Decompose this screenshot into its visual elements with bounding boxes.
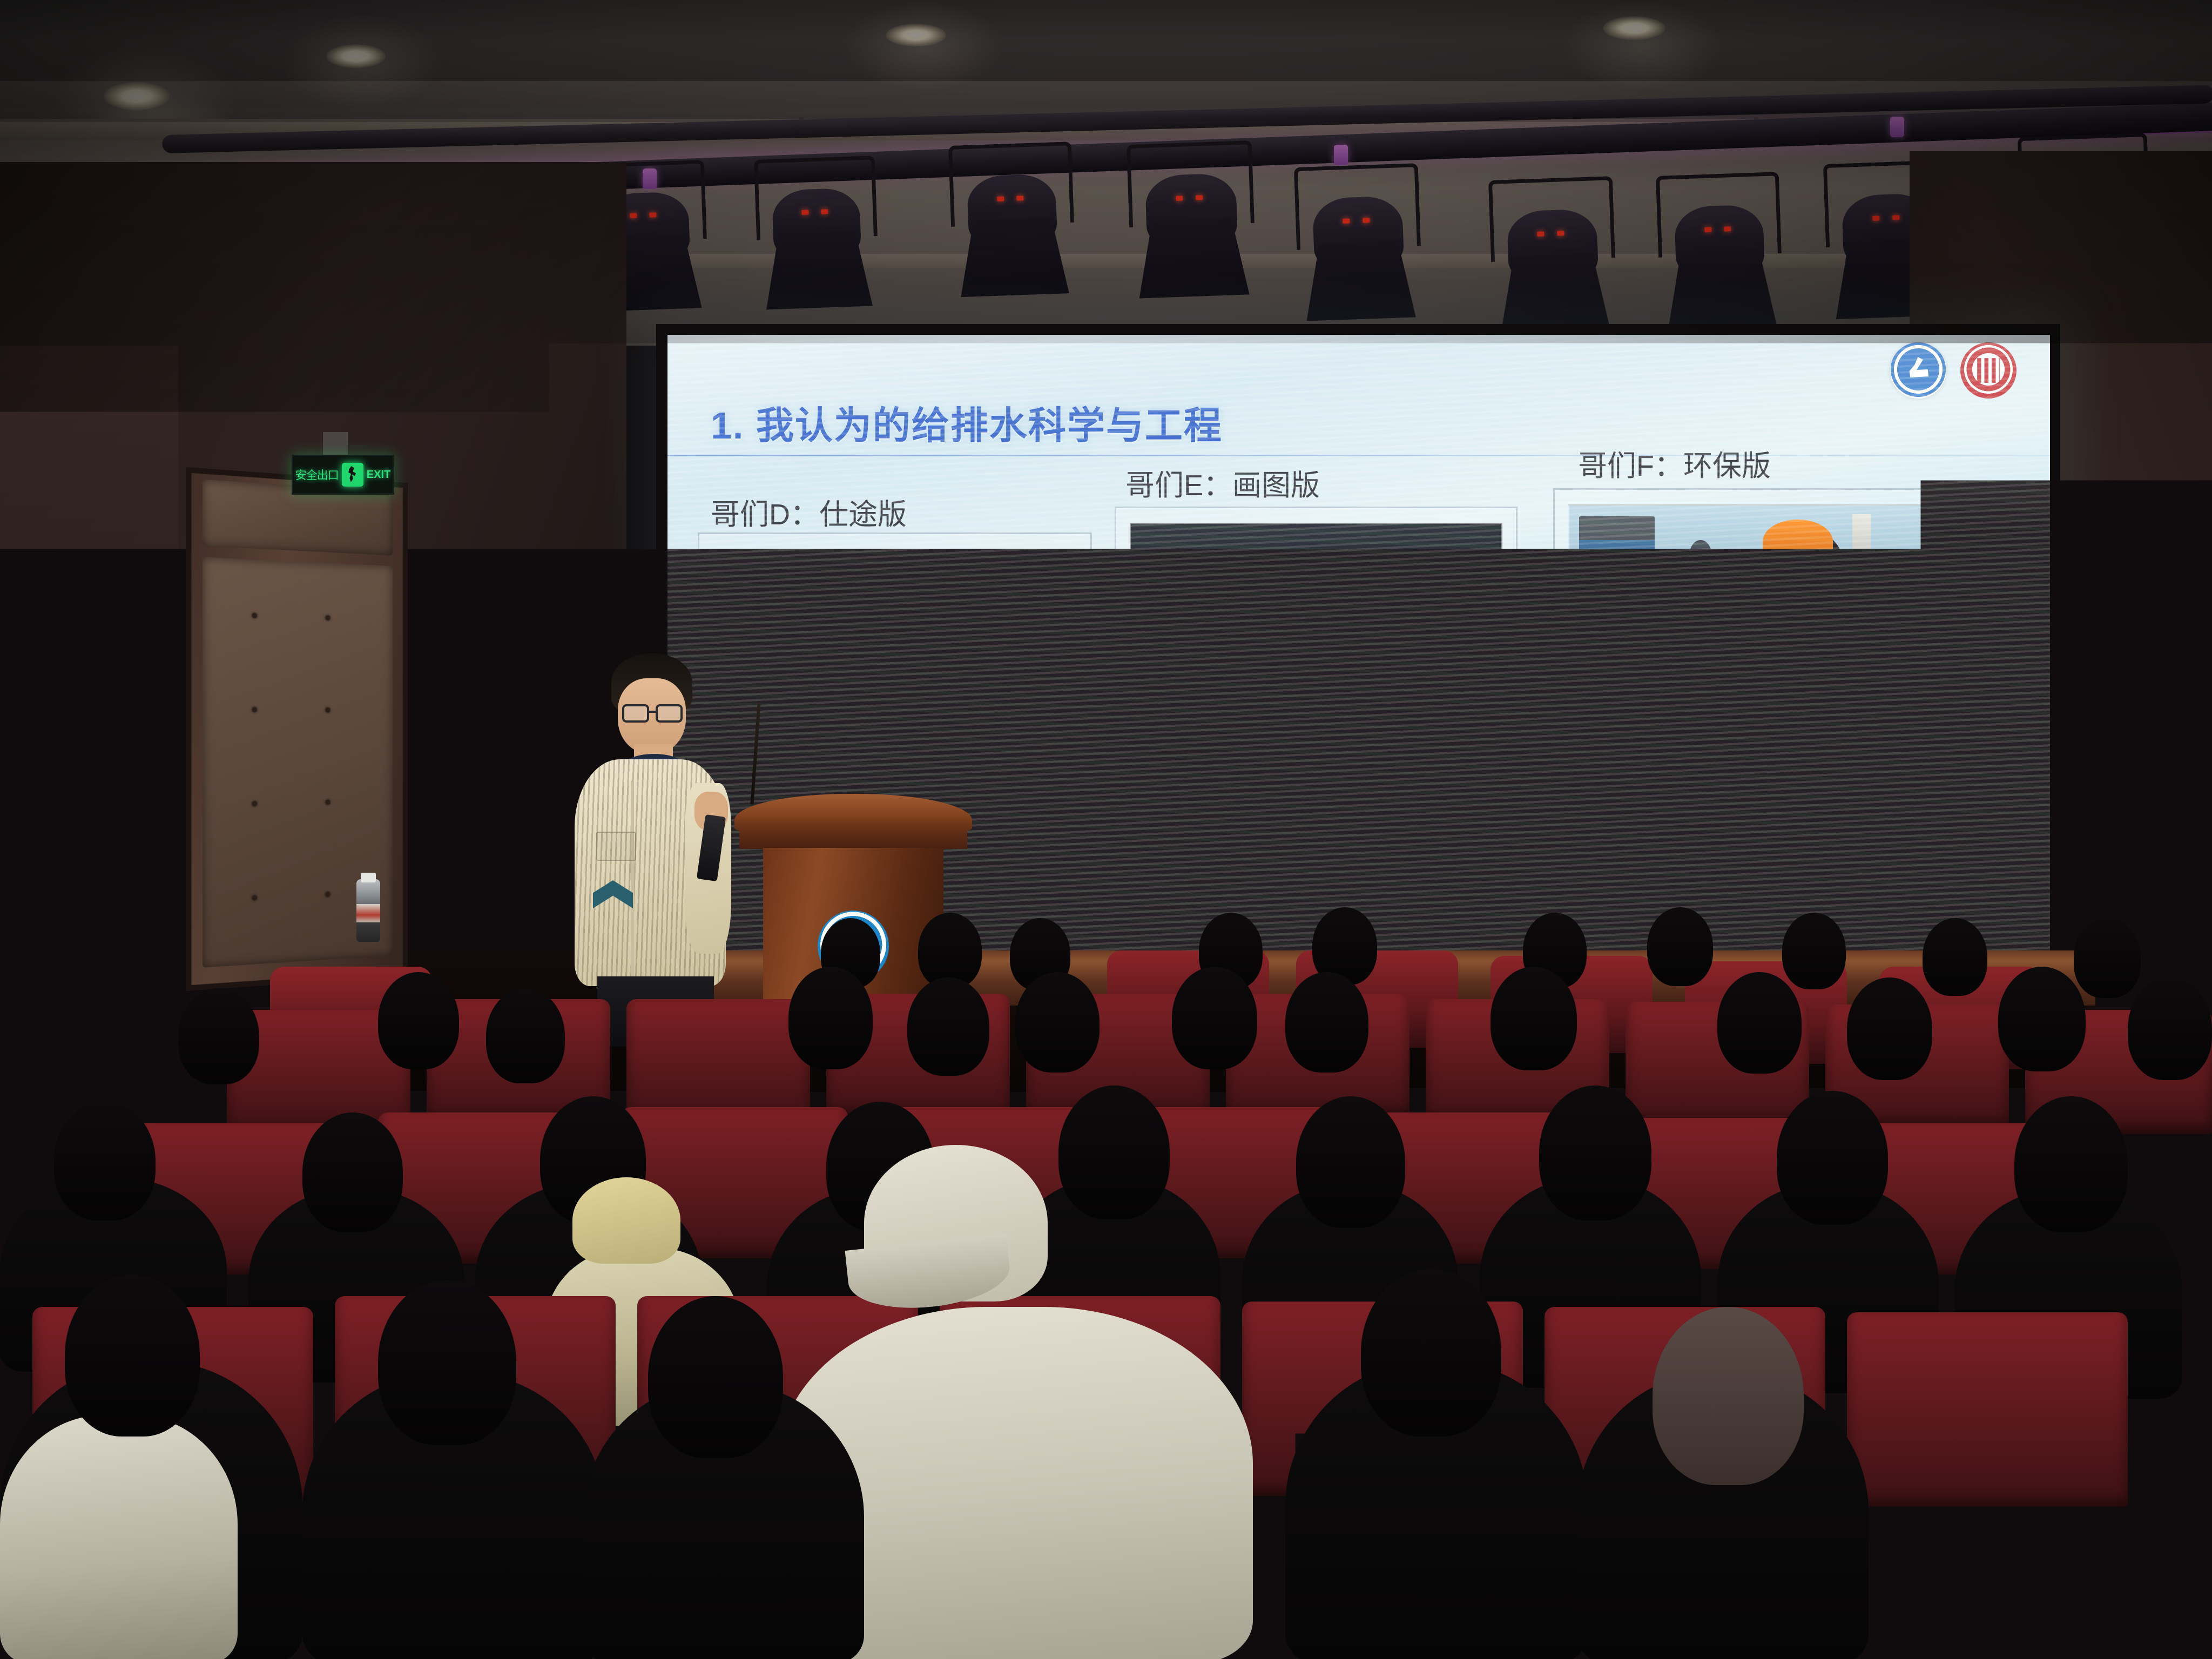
audience-head: [1172, 967, 1257, 1069]
column-1-heading: 哥们D：仕途版: [711, 490, 907, 533]
column-2-heading: 哥们E：画图版: [1125, 461, 1320, 504]
exit-sign-en-label: EXIT: [367, 469, 390, 481]
emergency-exit-sign: 安全出口 EXIT: [292, 455, 394, 495]
bottle-cap-icon: [361, 873, 376, 882]
seat: [626, 999, 810, 1123]
audience-head: [1647, 907, 1713, 986]
stage-light-icon: [1656, 172, 1783, 308]
wall-notice-icon: [29, 570, 142, 678]
audience-cap: [1966, 1193, 2171, 1355]
slide-column-3: 哥们F：环保版: [1553, 420, 2028, 960]
eyeglasses-icon: [622, 704, 649, 723]
university-crest-red-icon: [1960, 342, 2017, 399]
downlight-halo: [1561, 0, 1723, 92]
stage-light-icon: [754, 156, 879, 289]
callout-line-1: 1、学历贬值: [927, 673, 1564, 717]
bullet: 地点：河南郑州: [1576, 781, 1924, 817]
audience-head: [1653, 1307, 1804, 1485]
audience-head: [1361, 1269, 1501, 1437]
audience-head: [648, 1296, 783, 1458]
audience-head: [378, 1280, 516, 1445]
truss-clamp: [1334, 145, 1348, 165]
column-3-bullets: 某公司环安岗 总包6~10 W 地点：河南郑州 学历：本科 优点：事少双休 缺点…: [1576, 684, 1924, 962]
callout-line-2: 2、传统单位工作薪资低: [927, 718, 1564, 762]
downlight-icon: [886, 24, 946, 46]
audience-head: [178, 988, 259, 1084]
stage-light-icon: [1294, 163, 1422, 300]
eyeglasses-icon: [656, 704, 683, 723]
lecture-hall-photo: 安全出口 EXIT 1. 我认为的给排水科学与工程 哥们D：仕途版: [0, 0, 2212, 1659]
audience-head: [1782, 913, 1846, 989]
audience-head: [2074, 918, 2141, 998]
audience-head: [1539, 1085, 1651, 1220]
bullet: 学历：本科: [1576, 829, 1924, 865]
running-person-icon: [342, 463, 363, 487]
audience-head: [1717, 972, 1802, 1074]
audience-head: [1058, 1085, 1170, 1219]
column-3-heading: 哥们F：环保版: [1578, 442, 1771, 484]
audience-head: [907, 977, 989, 1076]
audience-head: [302, 1112, 403, 1232]
audience-head: [1923, 918, 1987, 996]
cloud-callout: 1、学历贬值 2、传统单位工作薪资低: [927, 545, 1564, 891]
stage-light-icon: [1488, 176, 1617, 312]
audience-head: [54, 1102, 156, 1220]
slide-logos: [1890, 342, 2017, 399]
column-3-photo: [1568, 504, 1995, 666]
audience-head: [378, 972, 459, 1069]
audience-head: [918, 913, 982, 988]
lectern-lip: [739, 826, 967, 849]
bullet: 某公司环安岗: [1576, 684, 1924, 719]
audience-cap: [572, 1177, 680, 1264]
university-crest-blue-icon: [1890, 342, 1946, 399]
stage-light-icon: [948, 141, 1076, 276]
truss-clamp: [1890, 117, 1904, 137]
downlight-icon: [326, 44, 386, 68]
downlight-icon: [1603, 16, 1665, 40]
audience-head: [1285, 972, 1368, 1073]
audience-head: [1296, 1096, 1405, 1228]
audience-head: [1847, 977, 1932, 1080]
stage-light-icon: [1127, 140, 1256, 278]
audience-head: [788, 967, 873, 1069]
audience-head: [486, 988, 565, 1083]
exit-sign-bracket: [323, 432, 348, 456]
audience-head: [1015, 972, 1100, 1073]
presenter: [562, 653, 745, 1031]
audience-head: [2128, 977, 2212, 1080]
audience-head: [43, 994, 124, 1089]
audience-head: [1491, 967, 1577, 1070]
audience-head: [1777, 1091, 1888, 1225]
audience-head: [1998, 967, 2086, 1071]
jacket-pocket: [596, 832, 636, 861]
jacket-zipper: [631, 781, 634, 981]
bullet: 优点：事少双休: [1576, 878, 1924, 914]
exit-sign-zh-label: 安全出口: [295, 467, 339, 483]
bottle-label: [356, 904, 380, 922]
audience-head: [65, 1274, 200, 1437]
bullet: 总包6~10 W: [1576, 732, 1924, 768]
eyeglasses-bridge: [649, 711, 657, 713]
audience-body-light: [0, 1415, 238, 1659]
